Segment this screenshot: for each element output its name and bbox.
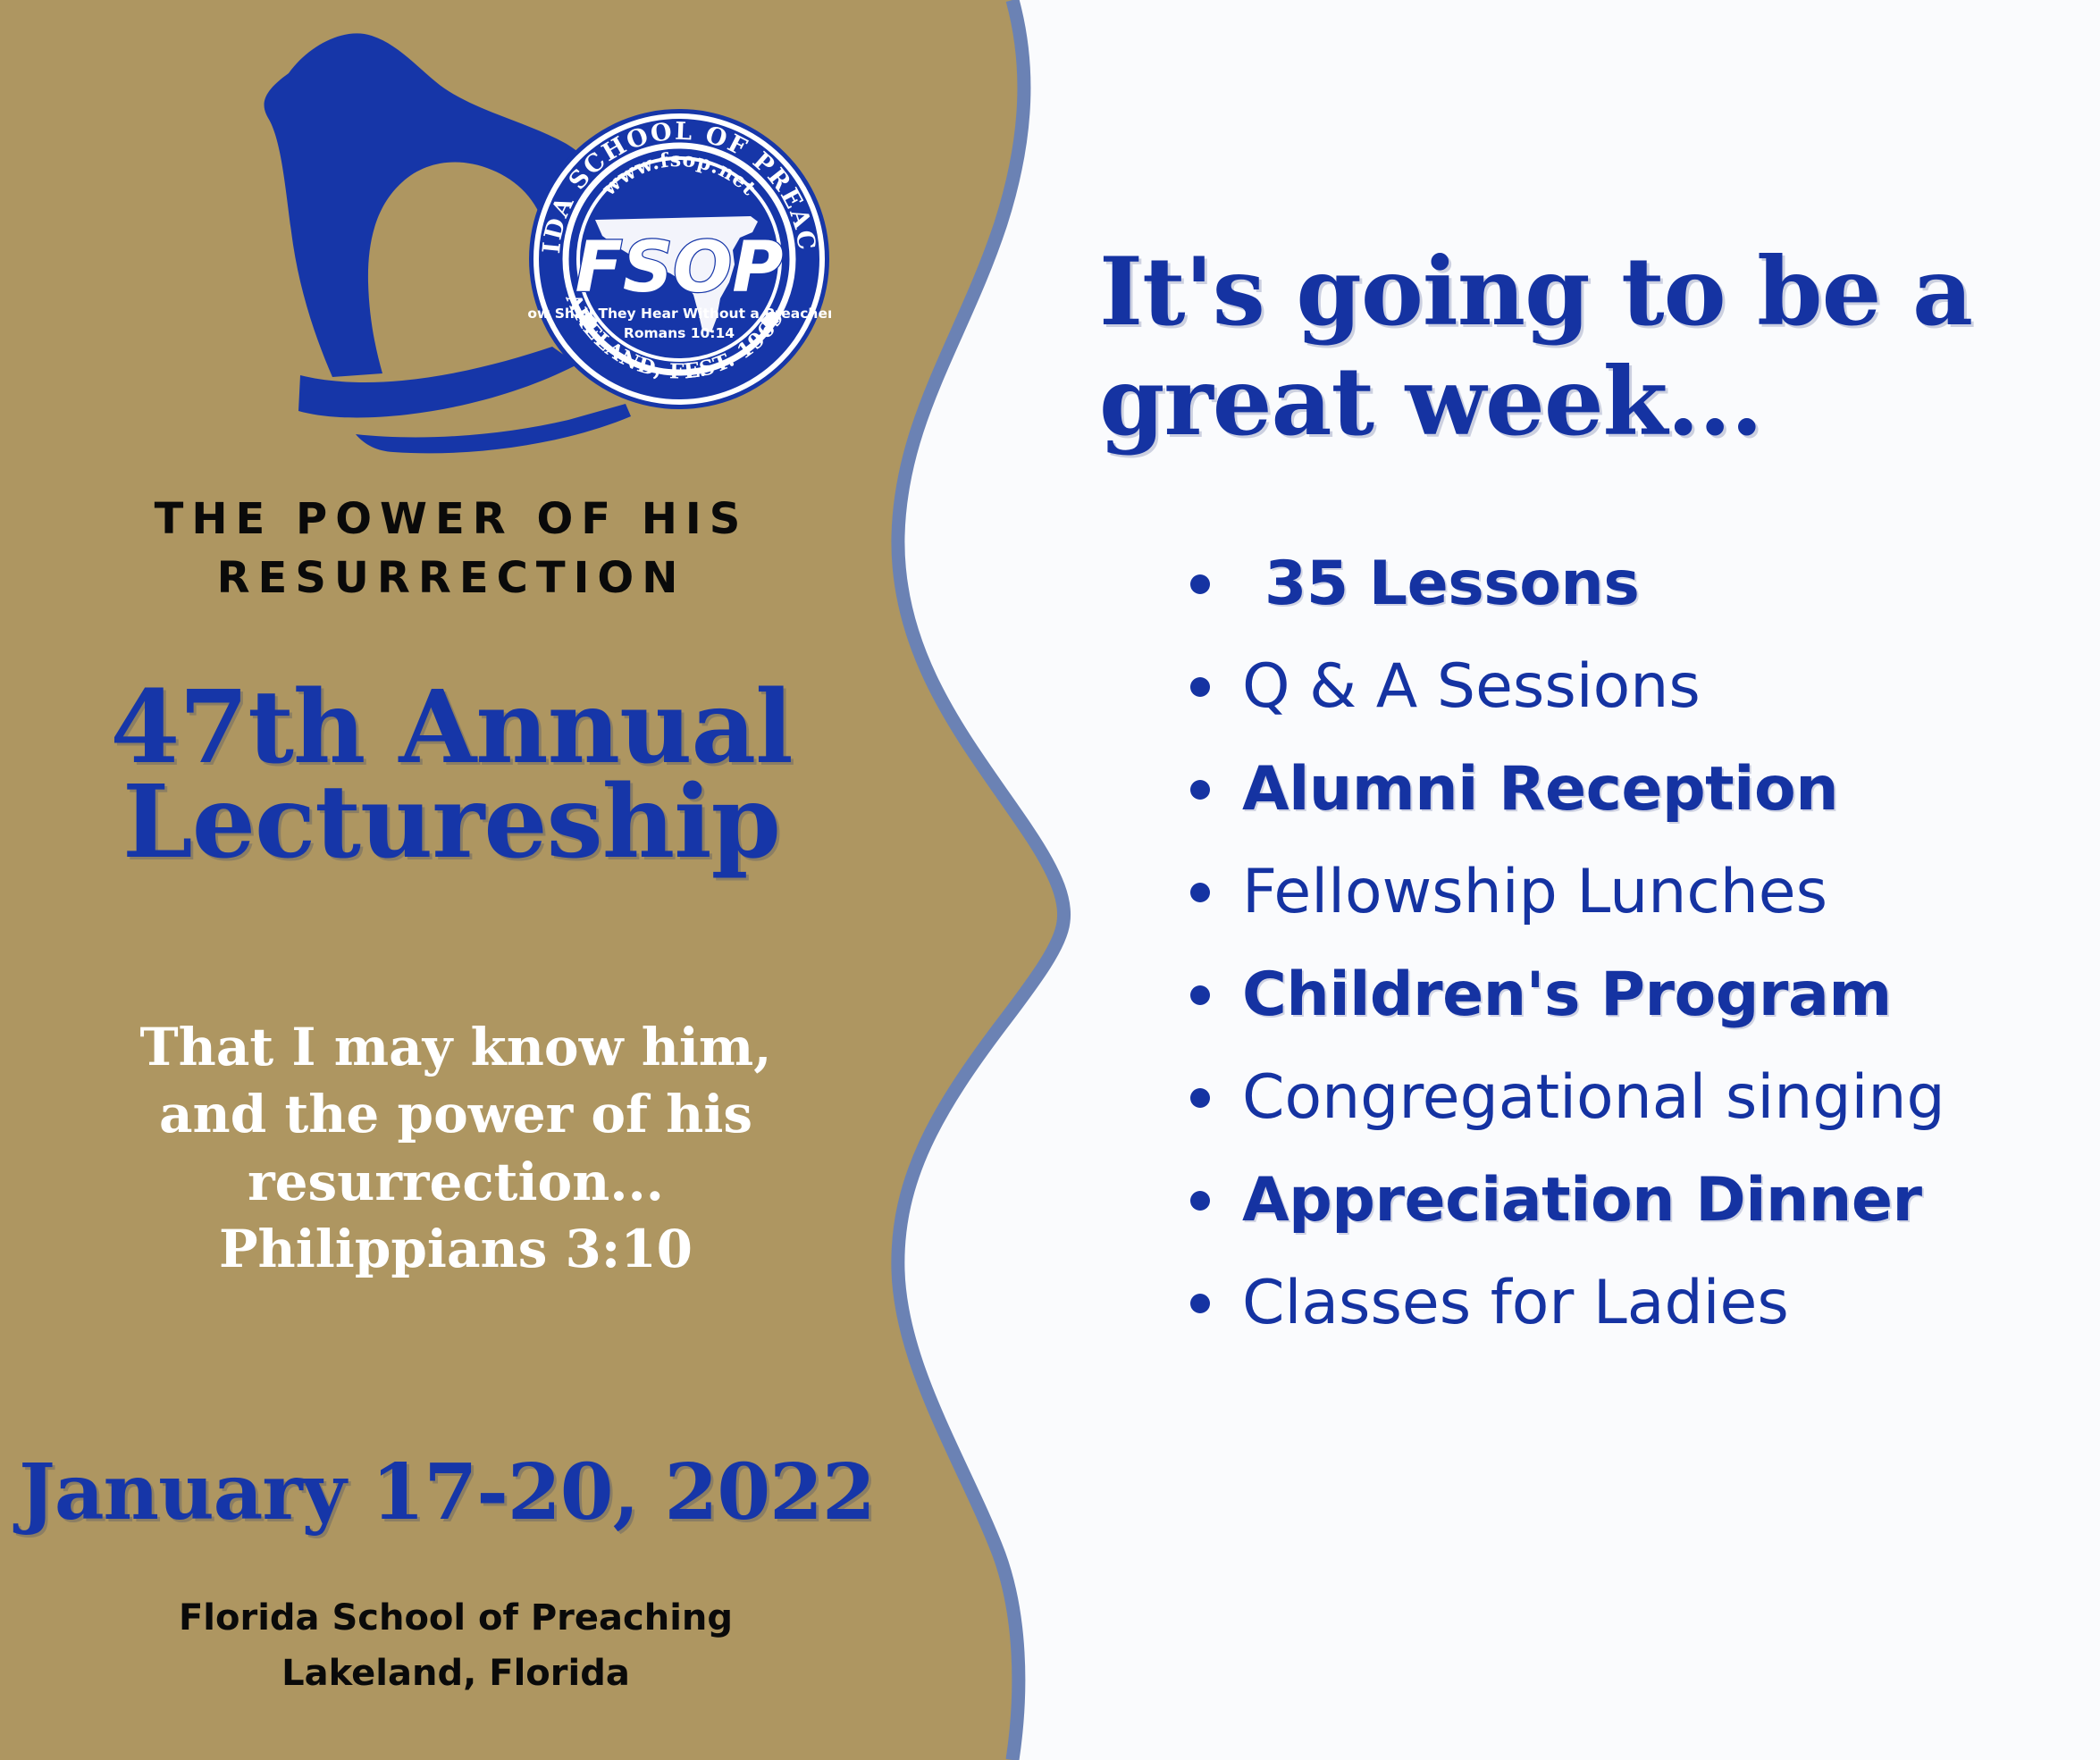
feature-item-3: Alumni Reception <box>1171 759 2100 820</box>
event-title-line-2: Lectureship <box>27 774 876 872</box>
right-white-panel: It's going to be a great week... 35 Less… <box>1081 0 2100 1760</box>
feature-item-2: Q & A Sessions <box>1171 657 2100 717</box>
event-title: 47th Annual Lectureship <box>27 679 876 872</box>
scripture-line-3: resurrection... <box>248 1152 664 1212</box>
feature-label: Congregational singing <box>1242 1062 1945 1133</box>
flyer-canvas: FLORIDA SCHOOL OF PREACHING LAKELAND, FL… <box>0 0 2100 1760</box>
fsop-logo-group: FLORIDA SCHOOL OF PREACHING LAKELAND, FL… <box>125 18 804 482</box>
headline: It's going to be a great week... <box>1099 237 2082 457</box>
scripture-line-1: That I may know him, <box>140 1017 772 1077</box>
seal-acronym: FSOP <box>575 228 784 308</box>
feature-label: Fellowship Lunches <box>1242 857 1827 927</box>
lectureship-theme: THE POWER OF HIS RESURRECTION <box>36 490 867 608</box>
fsop-seal-icon: FLORIDA SCHOOL OF PREACHING LAKELAND, FL… <box>527 107 831 411</box>
event-date: January 17-20, 2022 <box>18 1447 876 1538</box>
venue-city: Lakeland, Florida <box>54 1646 858 1701</box>
feature-item-1: 35 Lessons <box>1171 554 2100 615</box>
headline-line-1: It's going to be a <box>1099 236 1972 347</box>
left-gold-panel: FLORIDA SCHOOL OF PREACHING LAKELAND, FL… <box>0 0 903 1760</box>
feature-label: Q & A Sessions <box>1242 651 1701 722</box>
venue-name: Florida School of Preaching <box>179 1597 733 1638</box>
feature-label: Appreciation Dinner <box>1242 1165 1921 1236</box>
feature-list: 35 LessonsQ & A SessionsAlumni Reception… <box>1171 554 2100 1376</box>
feature-item-7: Appreciation Dinner <box>1171 1170 2100 1231</box>
scripture-line-2: and the power of his <box>159 1084 752 1144</box>
feature-label: Classes for Ladies <box>1242 1268 1789 1338</box>
feature-item-8: Classes for Ladies <box>1171 1273 2100 1334</box>
venue-block: Florida School of Preaching Lakeland, Fl… <box>54 1590 858 1701</box>
feature-label: Children's Program <box>1242 960 1892 1030</box>
seal-motto-reference: Romans 10:14 <box>624 325 735 341</box>
scripture-quote: That I may know him, and the power of hi… <box>54 1014 858 1284</box>
feature-item-6: Congregational singing <box>1171 1068 2100 1128</box>
scripture-reference: Philippians 3:10 <box>54 1216 858 1283</box>
feature-item-4: Fellowship Lunches <box>1171 862 2100 923</box>
theme-line-1: THE POWER OF HIS <box>155 494 749 544</box>
feature-label: 35 Lessons <box>1264 549 1639 619</box>
seal-motto: How Shall They Hear Without a Preacher? <box>527 306 831 322</box>
headline-line-2: great week... <box>1099 347 2082 457</box>
theme-line-2: RESURRECTION <box>217 553 686 603</box>
feature-label: Alumni Reception <box>1242 754 1838 825</box>
feature-item-5: Children's Program <box>1171 965 2100 1026</box>
